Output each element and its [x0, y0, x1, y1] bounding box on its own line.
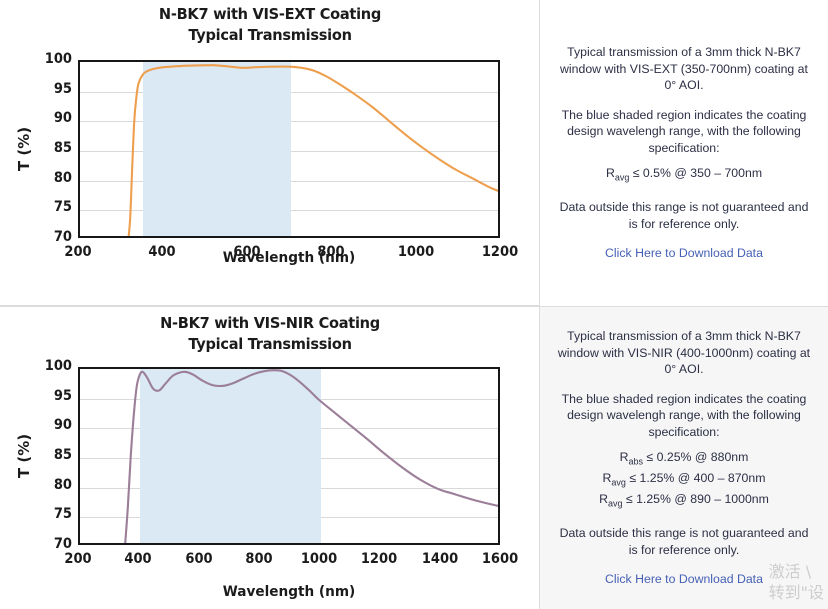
- transmission-curve-vis-nir: [80, 369, 498, 543]
- panel-vis-ext: N-BK7 with VIS-EXT Coating Typical Trans…: [0, 0, 828, 306]
- spec-line: Ravg ≤ 1.25% @ 890 – 1000nm: [554, 491, 814, 512]
- disclaimer-text-vis-ext: Data outside this range is not guarantee…: [554, 199, 814, 232]
- plot-frame-chart2: [78, 367, 500, 545]
- y-tick-label: 90: [41, 417, 72, 433]
- chart-title-line2: Typical Transmission: [16, 25, 524, 46]
- download-data-link-vis-nir[interactable]: Click Here to Download Data: [554, 571, 814, 588]
- spec-value: ≤ 0.5% @ 350 – 700nm: [629, 166, 762, 180]
- chart-cell-vis-ext: N-BK7 with VIS-EXT Coating Typical Trans…: [0, 0, 540, 306]
- spec-symbol: R: [606, 166, 615, 180]
- spec-symbol: R: [599, 492, 608, 506]
- y-tick-label: 95: [41, 388, 72, 404]
- y-tick-label: 85: [41, 447, 72, 463]
- x-tick-label: 1200: [352, 551, 406, 567]
- description-text-vis-nir: Typical transmission of a 3mm thick N-BK…: [554, 328, 814, 378]
- chart-cell-vis-nir: N-BK7 with VIS-NIR Coating Typical Trans…: [0, 306, 540, 609]
- plot-area-vis-nir: 707580859095100 200400600800100012001400…: [78, 367, 500, 545]
- curve-path: [125, 370, 498, 543]
- x-tick-label: 1200: [473, 244, 527, 260]
- chart-title-vis-ext: N-BK7 with VIS-EXT Coating Typical Trans…: [16, 4, 524, 46]
- x-tick-label: 1000: [292, 551, 346, 567]
- x-tick-label: 200: [51, 244, 105, 260]
- description-cell-vis-ext: Typical transmission of a 3mm thick N-BK…: [540, 0, 828, 306]
- panel-vis-nir: N-BK7 with VIS-NIR Coating Typical Trans…: [0, 306, 828, 609]
- description-cell-vis-nir: Typical transmission of a 3mm thick N-BK…: [540, 306, 828, 609]
- spec-symbol: R: [620, 450, 629, 464]
- x-tick-label: 1000: [389, 244, 443, 260]
- y-tick-label: 70: [41, 229, 72, 245]
- transmission-spec-page: N-BK7 with VIS-EXT Coating Typical Trans…: [0, 0, 828, 609]
- y-axis-label-chart1: T (%): [15, 119, 33, 179]
- spec-line: Ravg ≤ 0.5% @ 350 – 700nm: [554, 165, 814, 186]
- spec-value: ≤ 0.25% @ 880nm: [643, 450, 748, 464]
- spec-subscript: abs: [629, 457, 644, 467]
- disclaimer-text-vis-nir: Data outside this range is not guarantee…: [554, 525, 814, 558]
- chart-title-line2: Typical Transmission: [16, 334, 524, 355]
- x-tick-label: 400: [111, 551, 165, 567]
- x-tick-label: 200: [51, 551, 105, 567]
- x-tick-label: 600: [172, 551, 226, 567]
- x-tick-label: 1400: [413, 551, 467, 567]
- description-text-vis-ext: Typical transmission of a 3mm thick N-BK…: [554, 44, 814, 94]
- spec-value: ≤ 1.25% @ 890 – 1000nm: [623, 492, 769, 506]
- x-tick-label: 400: [135, 244, 189, 260]
- shaded-region-note-vis-nir: The blue shaded region indicates the coa…: [554, 391, 814, 441]
- download-data-link-vis-ext[interactable]: Click Here to Download Data: [554, 245, 814, 262]
- x-tick-label: 800: [232, 551, 286, 567]
- x-tick-label: 800: [304, 244, 358, 260]
- y-tick-label: 100: [41, 51, 72, 67]
- spec-list-vis-nir: Rabs ≤ 0.25% @ 880nmRavg ≤ 1.25% @ 400 –…: [554, 449, 814, 512]
- spec-line: Ravg ≤ 1.25% @ 400 – 870nm: [554, 470, 814, 491]
- spec-list-vis-ext: Ravg ≤ 0.5% @ 350 – 700nm: [554, 165, 814, 186]
- y-tick-label: 80: [41, 170, 72, 186]
- chart-title-vis-nir: N-BK7 with VIS-NIR Coating Typical Trans…: [16, 313, 524, 355]
- plot-frame-chart1: [78, 60, 500, 238]
- y-tick-label: 75: [41, 199, 72, 215]
- y-tick-label: 90: [41, 110, 72, 126]
- y-tick-label: 70: [41, 536, 72, 552]
- spec-subscript: avg: [615, 173, 630, 183]
- x-axis-label-chart2: Wavelength (nm): [91, 584, 488, 600]
- y-axis-label-chart2: T (%): [15, 426, 33, 486]
- chart-title-line1: N-BK7 with VIS-NIR Coating: [160, 314, 380, 332]
- shaded-region-note-vis-ext: The blue shaded region indicates the coa…: [554, 107, 814, 157]
- plot-area-vis-ext: 707580859095100 20040060080010001200: [78, 60, 500, 238]
- y-tick-label: 80: [41, 477, 72, 493]
- x-tick-label: 1600: [473, 551, 527, 567]
- spec-subscript: avg: [608, 499, 623, 509]
- y-tick-label: 100: [41, 358, 72, 374]
- x-tick-label: 600: [220, 244, 274, 260]
- y-tick-label: 85: [41, 140, 72, 156]
- y-tick-label: 95: [41, 81, 72, 97]
- spec-subscript: avg: [611, 478, 626, 488]
- spec-line: Rabs ≤ 0.25% @ 880nm: [554, 449, 814, 470]
- y-tick-label: 75: [41, 506, 72, 522]
- spec-value: ≤ 1.25% @ 400 – 870nm: [626, 471, 766, 485]
- curve-path: [128, 65, 498, 236]
- chart-title-line1: N-BK7 with VIS-EXT Coating: [159, 5, 381, 23]
- transmission-curve-vis-ext: [80, 62, 498, 236]
